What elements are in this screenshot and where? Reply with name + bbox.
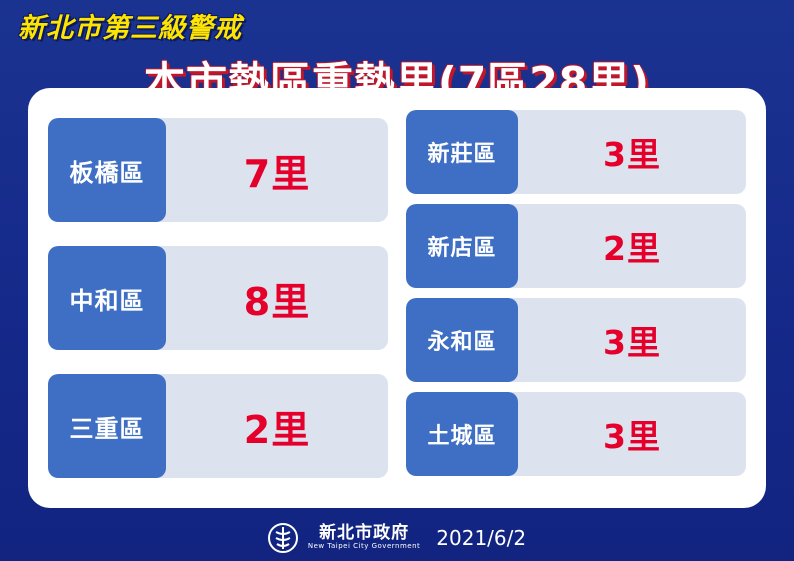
district-label: 新莊區 bbox=[406, 110, 518, 194]
village-count: 3里 bbox=[518, 298, 746, 382]
publish-date: 2021/6/2 bbox=[436, 526, 526, 550]
district-column-right: 新莊區 3里 新店區 2里 永和區 3里 土城區 3里 bbox=[406, 110, 746, 486]
poster-background: 新北市第三級警戒 本市熱區重熱里(7區28里) 板橋區 7里 中和區 8里 三重… bbox=[0, 0, 794, 561]
district-columns: 板橋區 7里 中和區 8里 三重區 2里 新莊區 3里 新店區 bbox=[28, 88, 766, 508]
table-row: 中和區 8里 bbox=[48, 246, 388, 350]
village-count: 2里 bbox=[518, 204, 746, 288]
village-count: 7里 bbox=[166, 118, 388, 222]
district-label: 中和區 bbox=[48, 246, 166, 350]
logo-english-name: New Taipei City Government bbox=[308, 543, 420, 550]
district-label: 永和區 bbox=[406, 298, 518, 382]
city-government-logo-icon bbox=[268, 523, 298, 553]
district-label: 新店區 bbox=[406, 204, 518, 288]
table-row: 新莊區 3里 bbox=[406, 110, 746, 194]
table-row: 三重區 2里 bbox=[48, 374, 388, 478]
logo-chinese-name: 新北市政府 bbox=[319, 525, 409, 543]
table-row: 土城區 3里 bbox=[406, 392, 746, 476]
district-label: 土城區 bbox=[406, 392, 518, 476]
district-label: 板橋區 bbox=[48, 118, 166, 222]
village-count: 3里 bbox=[518, 110, 746, 194]
content-card: 板橋區 7里 中和區 8里 三重區 2里 新莊區 3里 新店區 bbox=[28, 88, 766, 508]
district-column-left: 板橋區 7里 中和區 8里 三重區 2里 bbox=[48, 110, 388, 486]
district-label: 三重區 bbox=[48, 374, 166, 478]
table-row: 板橋區 7里 bbox=[48, 118, 388, 222]
footer: 新北市政府 New Taipei City Government 2021/6/… bbox=[0, 523, 794, 553]
table-row: 永和區 3里 bbox=[406, 298, 746, 382]
village-count: 8里 bbox=[166, 246, 388, 350]
village-count: 2里 bbox=[166, 374, 388, 478]
city-government-wordmark: 新北市政府 New Taipei City Government bbox=[308, 525, 420, 550]
table-row: 新店區 2里 bbox=[406, 204, 746, 288]
alert-level-banner: 新北市第三級警戒 bbox=[18, 6, 242, 45]
village-count: 3里 bbox=[518, 392, 746, 476]
